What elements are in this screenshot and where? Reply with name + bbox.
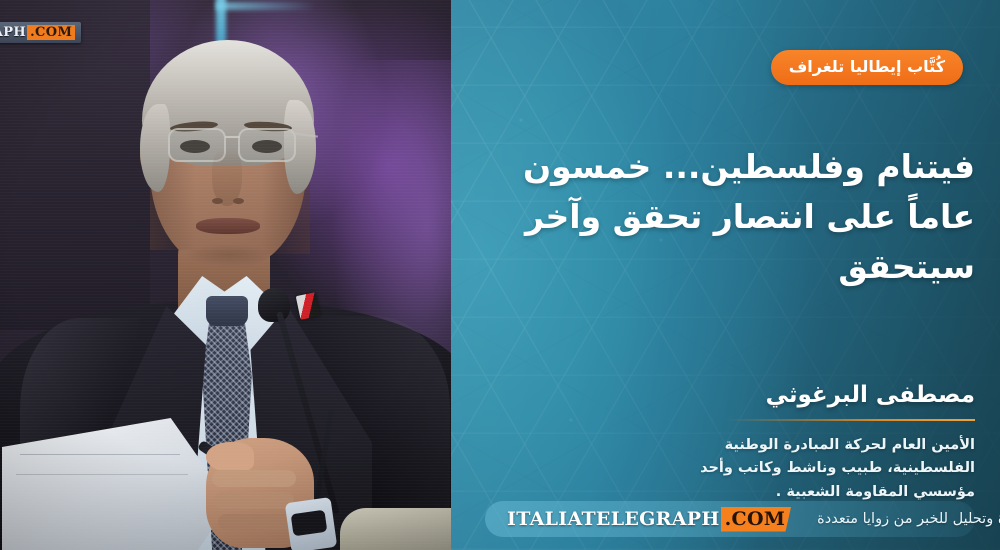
podium-edge xyxy=(340,508,451,550)
nostril-right xyxy=(233,198,244,204)
author-bio: الأمين العام لحركة المبادرة الوطنية الفل… xyxy=(645,434,975,504)
author-name: مصطفى البرغوثي xyxy=(555,382,975,408)
author-photo: GRAPH .COM xyxy=(0,0,451,550)
watermark-name: GRAPH xyxy=(0,25,26,40)
article-headline: فيتنام وفلسطين... خمسون عاماً على انتصار… xyxy=(475,142,975,292)
mouth xyxy=(196,218,260,234)
author-divider xyxy=(725,419,975,421)
photo-subject xyxy=(0,0,451,550)
nostril-left xyxy=(212,198,223,204)
finger xyxy=(212,470,296,487)
article-share-card: GRAPH .COM كُتَّاب إيطاليا تلغراف فيتنام… xyxy=(0,0,1000,550)
eyeglasses-bridge xyxy=(225,136,240,138)
palestinian-flag-pin-icon xyxy=(296,292,321,320)
photo-watermark-logo: GRAPH .COM xyxy=(0,22,81,43)
content-panel: كُتَّاب إيطاليا تلغراف فيتنام وفلسطين...… xyxy=(451,0,1000,550)
finger xyxy=(218,514,292,530)
site-logo-com: .COM xyxy=(721,507,792,532)
site-tagline: قراءة وتحليل للخبر من زوايا متعددة xyxy=(817,511,1000,527)
eyeglasses-lens-right xyxy=(238,128,296,162)
paper-text-line xyxy=(20,454,180,455)
chin-shadow xyxy=(186,244,272,266)
paper-text-line xyxy=(16,474,188,475)
finger xyxy=(214,492,294,509)
microphone-head xyxy=(258,288,290,322)
category-badge[interactable]: كُتَّاب إيطاليا تلغراف xyxy=(771,50,963,85)
hair-side-left xyxy=(140,104,170,192)
wristwatch xyxy=(291,510,328,537)
necktie-knot xyxy=(206,296,248,326)
watermark-com: .COM xyxy=(27,25,75,40)
site-logo-name: ITALIATELEGRAPH xyxy=(507,508,720,530)
footer-bar: قراءة وتحليل للخبر من زوايا متعددة ITALI… xyxy=(485,501,975,537)
site-logo[interactable]: ITALIATELEGRAPH .COM xyxy=(507,507,791,532)
thumb xyxy=(206,442,254,472)
